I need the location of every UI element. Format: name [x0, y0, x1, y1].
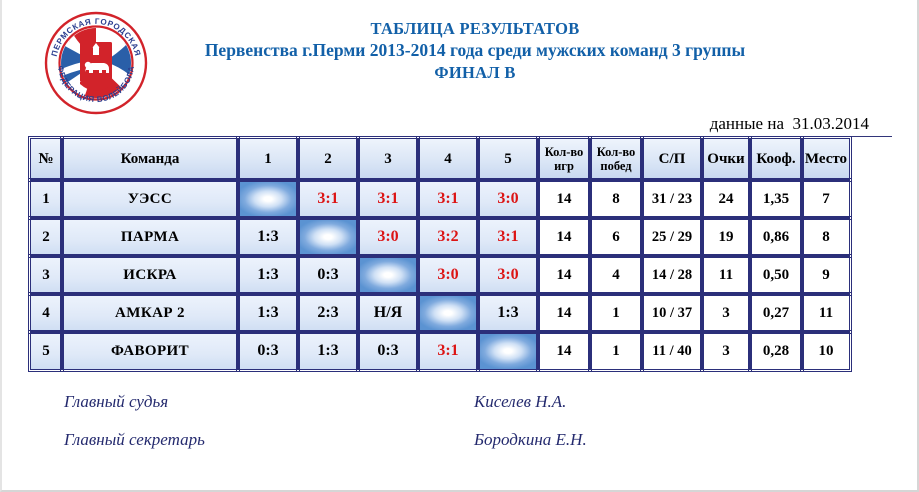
results-table-page: ПЕРМСКАЯ ГОРОДСКАЯ ФЕДЕРАЦИЯ ВОЛЕЙБОЛА Т…	[0, 0, 919, 492]
table-head: № Команда 1 2 3 4 5 Кол-во игр Кол-во по…	[30, 138, 850, 180]
row-coef-3: 0,50	[750, 256, 802, 294]
col-header-opp-4: 4	[418, 138, 478, 180]
row-sets-5: 11 / 40	[642, 332, 702, 370]
signatures-block: Главный судьяКиселев Н.А.Главный секрета…	[2, 392, 919, 468]
title-line-3: ФИНАЛ В	[170, 62, 780, 83]
row-sets-1: 31 / 23	[642, 180, 702, 218]
header-rule	[30, 136, 892, 137]
score-cell-1-5: 3:0	[478, 180, 538, 218]
results-table: № Команда 1 2 3 4 5 Кол-во игр Кол-во по…	[30, 138, 850, 370]
row-coef-4: 0,27	[750, 294, 802, 332]
row-sets-4: 10 / 37	[642, 294, 702, 332]
col-header-place: Место	[802, 138, 850, 180]
col-header-coef: Кооф.	[750, 138, 802, 180]
score-cell-diagonal-2-2	[298, 218, 358, 256]
col-header-sets: С/П	[642, 138, 702, 180]
score-cell-3-2: 0:3	[298, 256, 358, 294]
row-games-3: 14	[538, 256, 590, 294]
row-place-3: 9	[802, 256, 850, 294]
row-sets-3: 14 / 28	[642, 256, 702, 294]
title-line-1: ТАБЛИЦА РЕЗУЛЬТАТОВ	[170, 18, 780, 39]
row-number-2: 2	[30, 218, 62, 256]
row-points-1: 24	[702, 180, 750, 218]
score-cell-4-2: 2:3	[298, 294, 358, 332]
signature-row: Главный судьяКиселев Н.А.	[2, 392, 919, 430]
table-row: 4АМКАР 21:32:3Н/Я1:314110 / 3730,2711	[30, 294, 850, 332]
row-number-1: 1	[30, 180, 62, 218]
table-row: 5ФАВОРИТ0:31:30:33:114111 / 4030,2810	[30, 332, 850, 370]
row-wins-3: 4	[590, 256, 642, 294]
row-games-1: 14	[538, 180, 590, 218]
score-cell-1-3: 3:1	[358, 180, 418, 218]
col-header-number: №	[30, 138, 62, 180]
score-cell-diagonal-1-1	[238, 180, 298, 218]
score-cell-2-1: 1:3	[238, 218, 298, 256]
score-cell-1-4: 3:1	[418, 180, 478, 218]
row-games-2: 14	[538, 218, 590, 256]
row-number-4: 4	[30, 294, 62, 332]
row-team-name-2: ПАРМА	[62, 218, 238, 256]
col-header-points: Очки	[702, 138, 750, 180]
signature-name-1: Киселев Н.А.	[474, 392, 566, 412]
score-cell-diagonal-3-3	[358, 256, 418, 294]
row-points-3: 11	[702, 256, 750, 294]
row-team-name-5: ФАВОРИТ	[62, 332, 238, 370]
row-place-2: 8	[802, 218, 850, 256]
col-header-games-line1: Кол-во	[539, 145, 589, 159]
row-team-name-4: АМКАР 2	[62, 294, 238, 332]
col-header-wins-line2: побед	[591, 159, 641, 173]
score-cell-5-3: 0:3	[358, 332, 418, 370]
score-cell-2-3: 3:0	[358, 218, 418, 256]
row-wins-4: 1	[590, 294, 642, 332]
score-cell-3-4: 3:0	[418, 256, 478, 294]
table-body: 1УЭСС3:13:13:13:014831 / 23241,3572ПАРМА…	[30, 180, 850, 370]
score-cell-2-5: 3:1	[478, 218, 538, 256]
row-games-4: 14	[538, 294, 590, 332]
table-row: 2ПАРМА1:33:03:23:114625 / 29190,868	[30, 218, 850, 256]
row-team-name-3: ИСКРА	[62, 256, 238, 294]
row-place-5: 10	[802, 332, 850, 370]
row-coef-2: 0,86	[750, 218, 802, 256]
row-sets-2: 25 / 29	[642, 218, 702, 256]
col-header-team: Команда	[62, 138, 238, 180]
row-games-5: 14	[538, 332, 590, 370]
table-header-row: № Команда 1 2 3 4 5 Кол-во игр Кол-во по…	[30, 138, 850, 180]
col-header-opp-1: 1	[238, 138, 298, 180]
score-cell-3-5: 3:0	[478, 256, 538, 294]
col-header-games: Кол-во игр	[538, 138, 590, 180]
row-place-1: 7	[802, 180, 850, 218]
col-header-opp-3: 3	[358, 138, 418, 180]
signature-role-2: Главный секретарь	[64, 430, 205, 450]
score-cell-diagonal-4-4	[418, 294, 478, 332]
col-header-opp-5: 5	[478, 138, 538, 180]
col-header-wins: Кол-во побед	[590, 138, 642, 180]
document-titles: ТАБЛИЦА РЕЗУЛЬТАТОВ Первенства г.Перми 2…	[170, 18, 780, 84]
results-table-wrapper: № Команда 1 2 3 4 5 Кол-во игр Кол-во по…	[30, 138, 850, 370]
document-header: ПЕРМСКАЯ ГОРОДСКАЯ ФЕДЕРАЦИЯ ВОЛЕЙБОЛА Т…	[2, 0, 919, 118]
score-cell-5-2: 1:3	[298, 332, 358, 370]
col-header-games-line2: игр	[539, 159, 589, 173]
score-cell-5-1: 0:3	[238, 332, 298, 370]
score-cell-diagonal-5-5	[478, 332, 538, 370]
row-team-name-1: УЭСС	[62, 180, 238, 218]
row-coef-5: 0,28	[750, 332, 802, 370]
score-cell-4-5: 1:3	[478, 294, 538, 332]
row-points-2: 19	[702, 218, 750, 256]
signature-name-2: Бородкина Е.Н.	[474, 430, 587, 450]
row-coef-1: 1,35	[750, 180, 802, 218]
row-number-5: 5	[30, 332, 62, 370]
score-cell-4-3: Н/Я	[358, 294, 418, 332]
row-points-5: 3	[702, 332, 750, 370]
score-cell-4-1: 1:3	[238, 294, 298, 332]
score-cell-3-1: 1:3	[238, 256, 298, 294]
row-wins-5: 1	[590, 332, 642, 370]
signature-row: Главный секретарьБородкина Е.Н.	[2, 430, 919, 468]
col-header-opp-2: 2	[298, 138, 358, 180]
row-place-4: 11	[802, 294, 850, 332]
table-row: 3ИСКРА1:30:33:03:014414 / 28110,509	[30, 256, 850, 294]
perm-volleyball-federation-emblem-icon: ПЕРМСКАЯ ГОРОДСКАЯ ФЕДЕРАЦИЯ ВОЛЕЙБОЛА	[38, 6, 154, 118]
row-points-4: 3	[702, 294, 750, 332]
col-header-wins-line1: Кол-во	[591, 145, 641, 159]
title-line-2: Первенства г.Перми 2013-2014 года среди …	[170, 39, 780, 62]
score-cell-2-4: 3:2	[418, 218, 478, 256]
row-number-3: 3	[30, 256, 62, 294]
score-cell-1-2: 3:1	[298, 180, 358, 218]
signature-role-1: Главный судья	[64, 392, 168, 412]
federation-logo: ПЕРМСКАЯ ГОРОДСКАЯ ФЕДЕРАЦИЯ ВОЛЕЙБОЛА	[38, 6, 154, 118]
row-wins-2: 6	[590, 218, 642, 256]
data-date-note: данные на 31.03.2014	[710, 114, 869, 134]
score-cell-5-4: 3:1	[418, 332, 478, 370]
table-row: 1УЭСС3:13:13:13:014831 / 23241,357	[30, 180, 850, 218]
row-wins-1: 8	[590, 180, 642, 218]
